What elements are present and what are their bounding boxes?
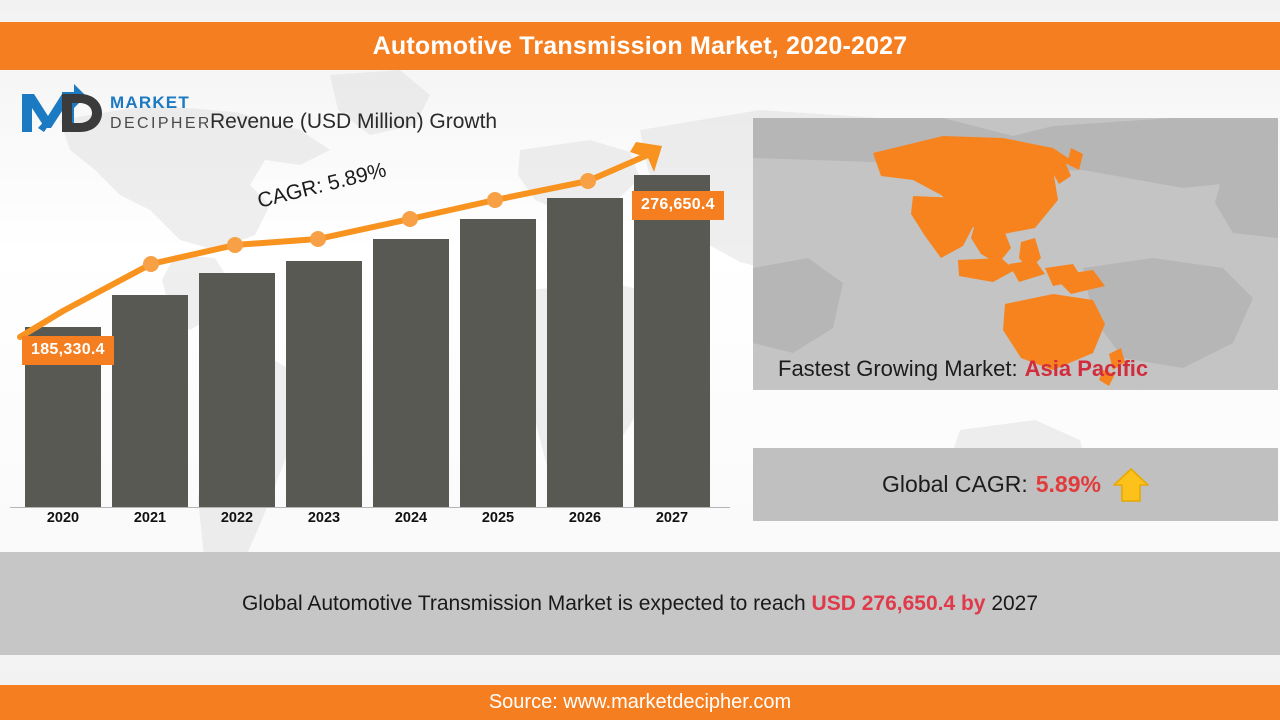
bar-2023	[286, 261, 362, 507]
fastest-growing-value: Asia Pacific	[1025, 356, 1149, 382]
x-tick-2021: 2021	[134, 510, 166, 526]
header-band: Automotive Transmission Market, 2020-202…	[0, 22, 1280, 70]
bar-2024	[373, 239, 449, 507]
brand-logo[interactable]: MARKET DECIPHER	[18, 80, 208, 142]
value-badge-2027: 276,650.4	[632, 191, 724, 220]
bar-2026	[547, 198, 623, 507]
x-tick-2022: 2022	[221, 510, 253, 526]
bar-2022	[199, 273, 275, 507]
source-text: Source: www.marketdecipher.com	[489, 691, 791, 714]
statement-part1: Global Automotive Transmission Market is…	[242, 592, 812, 615]
x-tick-2026: 2026	[569, 510, 601, 526]
x-axis-labels: 2020 2021 2022 2023 2024 2025 2026 2027	[0, 510, 740, 536]
bar-2025	[460, 219, 536, 507]
statement-highlight: USD 276,650.4 by	[812, 592, 986, 615]
logo-line1: MARKET	[110, 93, 190, 112]
x-tick-2024: 2024	[395, 510, 427, 526]
statement-part2: 2027	[985, 592, 1038, 615]
market-statement: Global Automotive Transmission Market is…	[242, 592, 1038, 616]
fastest-growing-label: Fastest Growing Market:	[778, 356, 1018, 382]
revenue-bar-chart	[0, 140, 740, 520]
global-cagr-label: Global CAGR:	[882, 471, 1028, 498]
footer-band: Source: www.marketdecipher.com	[0, 685, 1280, 720]
page-title: Automotive Transmission Market, 2020-202…	[373, 32, 908, 61]
logo-mark-icon: MARKET DECIPHER	[18, 80, 208, 142]
x-tick-2027: 2027	[656, 510, 688, 526]
bar-series	[25, 175, 710, 507]
up-arrow-icon	[1113, 468, 1149, 502]
x-tick-2020: 2020	[47, 510, 79, 526]
x-tick-2025: 2025	[482, 510, 514, 526]
bar-2027	[634, 175, 710, 507]
chart-title: Revenue (USD Million) Growth	[210, 110, 497, 134]
statement-band: Global Automotive Transmission Market is…	[0, 552, 1280, 655]
x-tick-2023: 2023	[308, 510, 340, 526]
global-cagr-panel: Global CAGR: 5.89%	[753, 448, 1278, 521]
value-badge-2020: 185,330.4	[22, 336, 114, 365]
global-cagr-value: 5.89%	[1036, 471, 1101, 498]
bar-2021	[112, 295, 188, 507]
fastest-growing-market: Fastest Growing Market: Asia Pacific	[753, 348, 1278, 390]
logo-line2: DECIPHER	[110, 115, 208, 132]
